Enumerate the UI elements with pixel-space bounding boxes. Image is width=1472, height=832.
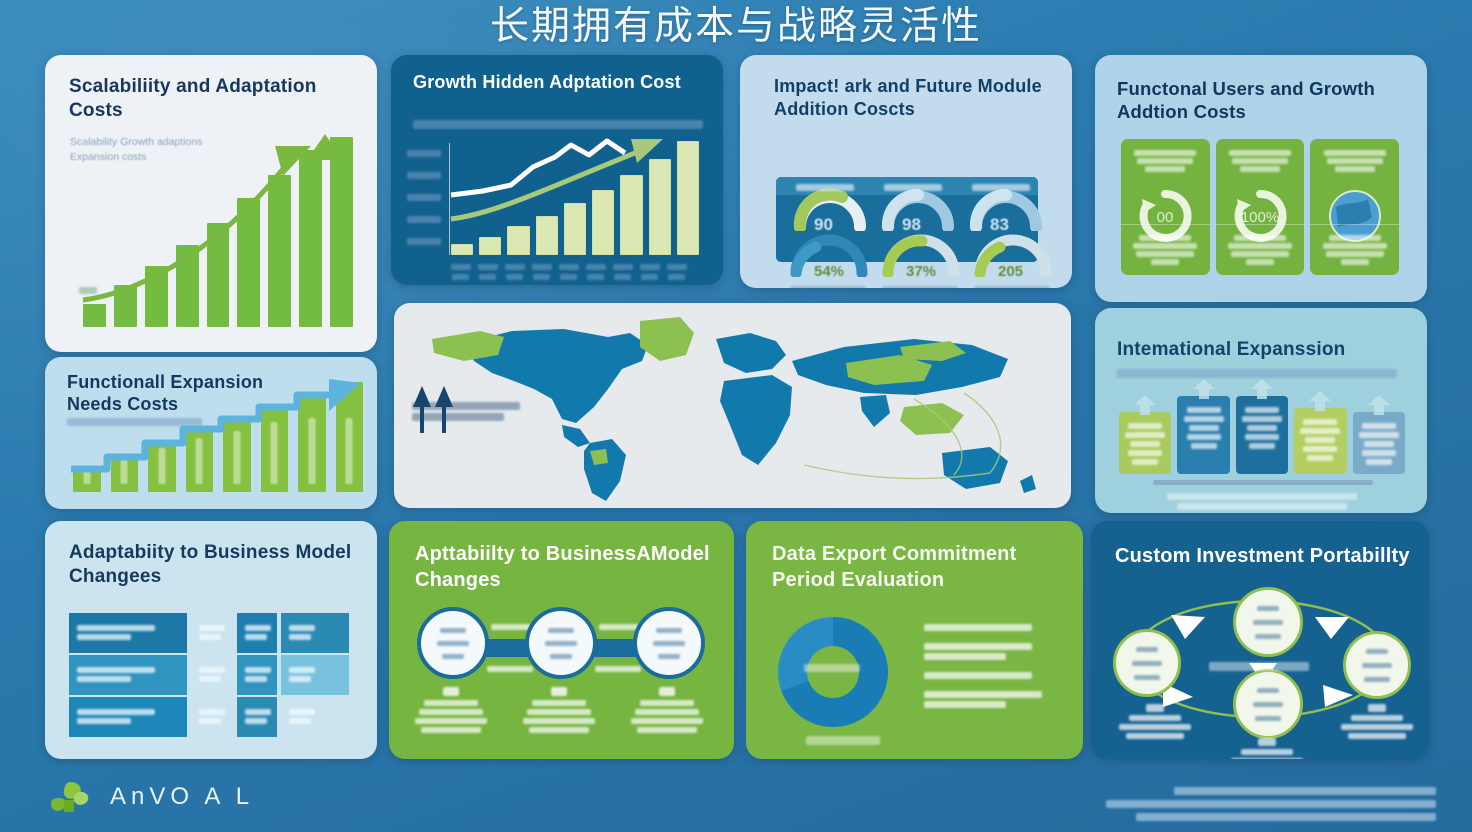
card-1[interactable]: 100% xyxy=(1216,139,1305,275)
up-arrow-icon-2 xyxy=(1250,378,1274,405)
x-sublabel-2 xyxy=(506,274,523,280)
gauge-bottom-label-0 xyxy=(790,286,866,288)
connector-label-1 xyxy=(599,624,639,630)
y-tick-3 xyxy=(407,216,441,223)
table-cell-r1-c2 xyxy=(237,655,277,695)
x-label-0 xyxy=(451,264,471,270)
table-cell-r0-c1 xyxy=(191,613,233,653)
panel-title: Scalabiliity and Adaptation Costs xyxy=(69,75,349,123)
footer-line-3 xyxy=(1136,813,1436,821)
card-foot-0 xyxy=(1131,233,1200,267)
panel-title: Adaptabiity to Business Model Changees xyxy=(69,541,359,589)
footnote xyxy=(806,736,880,745)
card-divider-2 xyxy=(1310,224,1399,225)
y-tick-4 xyxy=(407,238,441,245)
up-arrow-icon-4 xyxy=(1367,394,1391,421)
document-icon xyxy=(421,611,485,675)
panel-title: Growth Hidden Adptation Cost xyxy=(413,71,683,94)
card-head-0 xyxy=(1131,148,1200,174)
x-label-1 xyxy=(478,264,498,270)
flow-caption-0 xyxy=(411,687,491,736)
leaf-puzzle-logo-icon xyxy=(40,778,96,818)
flow-circle-1[interactable] xyxy=(525,607,597,679)
table-cell-r2-c3 xyxy=(281,697,349,737)
panel-adaptability-flow[interactable]: Apttabiilty to BusinessAModel Changes xyxy=(389,521,734,759)
x-label-5 xyxy=(586,264,606,270)
card-group: 00100% xyxy=(1121,139,1399,275)
table-cell-r0-c0 xyxy=(69,613,187,653)
flow-caption-2 xyxy=(627,687,707,736)
footer-line-2 xyxy=(1106,800,1436,808)
panel-title: Apttabiilty to BusinessAModel Changes xyxy=(415,541,715,593)
list-item-3 xyxy=(924,691,1074,708)
table-cell-r1-c1 xyxy=(191,655,233,695)
node-caption-1 xyxy=(1107,701,1203,742)
panel-growth-hidden-adaptation-cost[interactable]: Growth Hidden Adptation Cost xyxy=(391,55,723,285)
x-sublabel-3 xyxy=(533,274,550,280)
cycle-node-1[interactable] xyxy=(1113,629,1181,697)
x-label-6 xyxy=(613,264,633,270)
cell-text xyxy=(191,697,233,736)
panel-functional-users-and-growth-addition-costs[interactable]: Functonal Users and Growth Addtion Costs… xyxy=(1095,55,1427,302)
card-head-2 xyxy=(1320,148,1389,174)
table-cell-r0-c3 xyxy=(281,613,349,653)
axis-label-cost xyxy=(79,287,97,294)
cell-text xyxy=(69,655,187,694)
panel-custom-investment-portability[interactable]: Custom Investment Portabillty xyxy=(1091,521,1429,759)
step-arrow-icon xyxy=(67,377,377,489)
evaluation-list xyxy=(924,621,1074,720)
x-label-4 xyxy=(559,264,579,270)
gauge-bottom-value-0: 54% xyxy=(814,263,844,280)
donut-center-label xyxy=(804,664,860,672)
map-annotation-line-2 xyxy=(412,413,504,421)
column-1[interactable] xyxy=(1177,396,1229,474)
cell-text xyxy=(281,655,349,694)
node-label-2 xyxy=(1346,634,1408,696)
trend-lines xyxy=(449,133,704,258)
table-cell-r0-c2 xyxy=(237,613,277,653)
map-annotation xyxy=(412,399,522,424)
panel-subtitle xyxy=(1117,369,1397,378)
infographic-canvas: 长期拥有成本与战略灵活性 Scalabiliity and Adaptation… xyxy=(0,0,1472,832)
x-label-3 xyxy=(532,264,552,270)
x-sublabel-5 xyxy=(587,274,604,280)
node-caption-2 xyxy=(1329,701,1425,742)
connector-sublabel-0 xyxy=(487,666,533,672)
table-cell-r2-c2 xyxy=(237,697,277,737)
x-label-2 xyxy=(505,264,525,270)
cell-text xyxy=(237,697,277,736)
card-divider-1 xyxy=(1216,224,1305,225)
cell-text xyxy=(191,655,233,694)
x-label-8 xyxy=(667,264,687,270)
card-head-1 xyxy=(1226,148,1295,174)
gear-icon xyxy=(529,611,593,675)
footnote-line-2 xyxy=(1177,503,1347,510)
card-2[interactable] xyxy=(1310,139,1399,275)
flow-circle-2[interactable] xyxy=(633,607,705,679)
panel-title: Intemational Expanssion xyxy=(1117,338,1407,362)
list-item-1 xyxy=(924,643,1074,660)
cycle-node-0[interactable] xyxy=(1233,587,1303,657)
x-sublabel-4 xyxy=(560,274,577,280)
gauge-bottom-value-1: 37% xyxy=(906,263,936,280)
cell-text xyxy=(281,697,349,736)
connector-sublabel-1 xyxy=(595,666,641,672)
footer-logo[interactable]: AnVO A L xyxy=(40,778,370,820)
gauge-bottom-label-1 xyxy=(882,286,958,288)
x-sublabel-6 xyxy=(614,274,631,280)
x-sublabel-0 xyxy=(452,274,469,280)
table-cell-r1-c3 xyxy=(281,655,349,695)
table-cell-r1-c0 xyxy=(69,655,187,695)
cycle-node-2[interactable] xyxy=(1343,631,1411,699)
y-tick-2 xyxy=(407,194,441,201)
process-flow xyxy=(417,613,707,683)
column-group xyxy=(1119,396,1405,474)
panel-title: Data Export Commitment Period Evaluation xyxy=(772,541,1072,593)
node-caption-3 xyxy=(1219,735,1315,759)
node-label-1 xyxy=(1116,632,1178,694)
gauge-top-label-1 xyxy=(884,184,942,191)
data-table xyxy=(69,613,352,731)
column-0[interactable] xyxy=(1119,412,1171,474)
table-cell-r2-c1 xyxy=(191,697,233,737)
column-3[interactable] xyxy=(1294,408,1346,474)
column-2[interactable] xyxy=(1236,396,1288,474)
panel-functional-expansion-needs-costs[interactable]: Functionall Expansion Needs Costs xyxy=(45,357,377,509)
flow-circle-0[interactable] xyxy=(417,607,489,679)
connector-label-0 xyxy=(491,624,531,630)
map-annotation-line-1 xyxy=(412,402,520,410)
up-arrow-icon-1 xyxy=(1192,378,1216,405)
cell-text xyxy=(237,613,277,652)
gauge-bottom-label-2 xyxy=(974,286,1050,288)
x-label-7 xyxy=(640,264,660,270)
list-item-0 xyxy=(924,624,1074,631)
card-divider-0 xyxy=(1121,224,1210,225)
y-tick-1 xyxy=(407,172,441,179)
column-4[interactable] xyxy=(1353,412,1405,474)
card-foot-2 xyxy=(1320,233,1389,267)
gauge-bottom-value-2: 205 xyxy=(998,263,1023,280)
panel-subtitle xyxy=(413,120,703,129)
node-label-3 xyxy=(1236,672,1300,736)
footnote-line-1 xyxy=(1167,493,1357,500)
panel-title: Custom Investment Portabillty xyxy=(1115,543,1415,569)
gauge-top-label-0 xyxy=(796,184,854,191)
table-cell-r2-c0 xyxy=(69,697,187,737)
node-label-0 xyxy=(1236,590,1300,654)
x-sublabel-7 xyxy=(641,274,658,280)
flow-caption-1 xyxy=(519,687,599,736)
list-item-2 xyxy=(924,672,1074,679)
x-sublabel-8 xyxy=(668,274,685,280)
footer-line-1 xyxy=(1174,787,1436,795)
panel-title: Impact! ark and Future Module Addition C… xyxy=(774,75,1064,121)
panel-impact-and-future-module-addition-costs[interactable]: Impact! ark and Future Module Addition C… xyxy=(740,55,1072,288)
panel-scalability-and-adaptation-costs[interactable]: Scalabiliity and Adaptation Costs Scalab… xyxy=(45,55,377,352)
center-label xyxy=(1209,662,1309,671)
check-icon xyxy=(637,611,701,675)
cell-text xyxy=(281,613,349,652)
gauge-top-label-2 xyxy=(972,184,1030,191)
growth-arrow-icon xyxy=(75,124,355,324)
card-foot-1 xyxy=(1226,233,1295,267)
y-tick-0 xyxy=(407,150,441,157)
cycle-node-3[interactable] xyxy=(1233,669,1303,739)
panel-title: Functonal Users and Growth Addtion Costs xyxy=(1117,77,1417,123)
panel-international-expansion[interactable]: Intemational Expanssion xyxy=(1095,308,1427,513)
panel-adaptability-table[interactable]: Adaptabiity to Business Model Changees xyxy=(45,521,377,759)
donut-hole xyxy=(807,646,859,698)
brand-name: AnVO A L xyxy=(110,783,254,811)
cell-text xyxy=(191,613,233,652)
footer-right-text xyxy=(1076,782,1436,826)
x-sublabel-1 xyxy=(479,274,496,280)
page-title: 长期拥有成本与战略灵活性 xyxy=(0,4,1472,50)
up-arrow-icon-0 xyxy=(1133,394,1157,421)
cell-text xyxy=(237,655,277,694)
cell-text xyxy=(69,697,187,736)
panel-data-export-commitment[interactable]: Data Export Commitment Period Evaluation xyxy=(746,521,1083,759)
cell-text xyxy=(69,613,187,652)
baseline-divider xyxy=(1153,480,1373,485)
donut-chart xyxy=(778,617,888,727)
up-arrow-icon-3 xyxy=(1308,390,1332,417)
card-0[interactable]: 00 xyxy=(1121,139,1210,275)
panel-global-coverage-map[interactable] xyxy=(394,303,1071,508)
